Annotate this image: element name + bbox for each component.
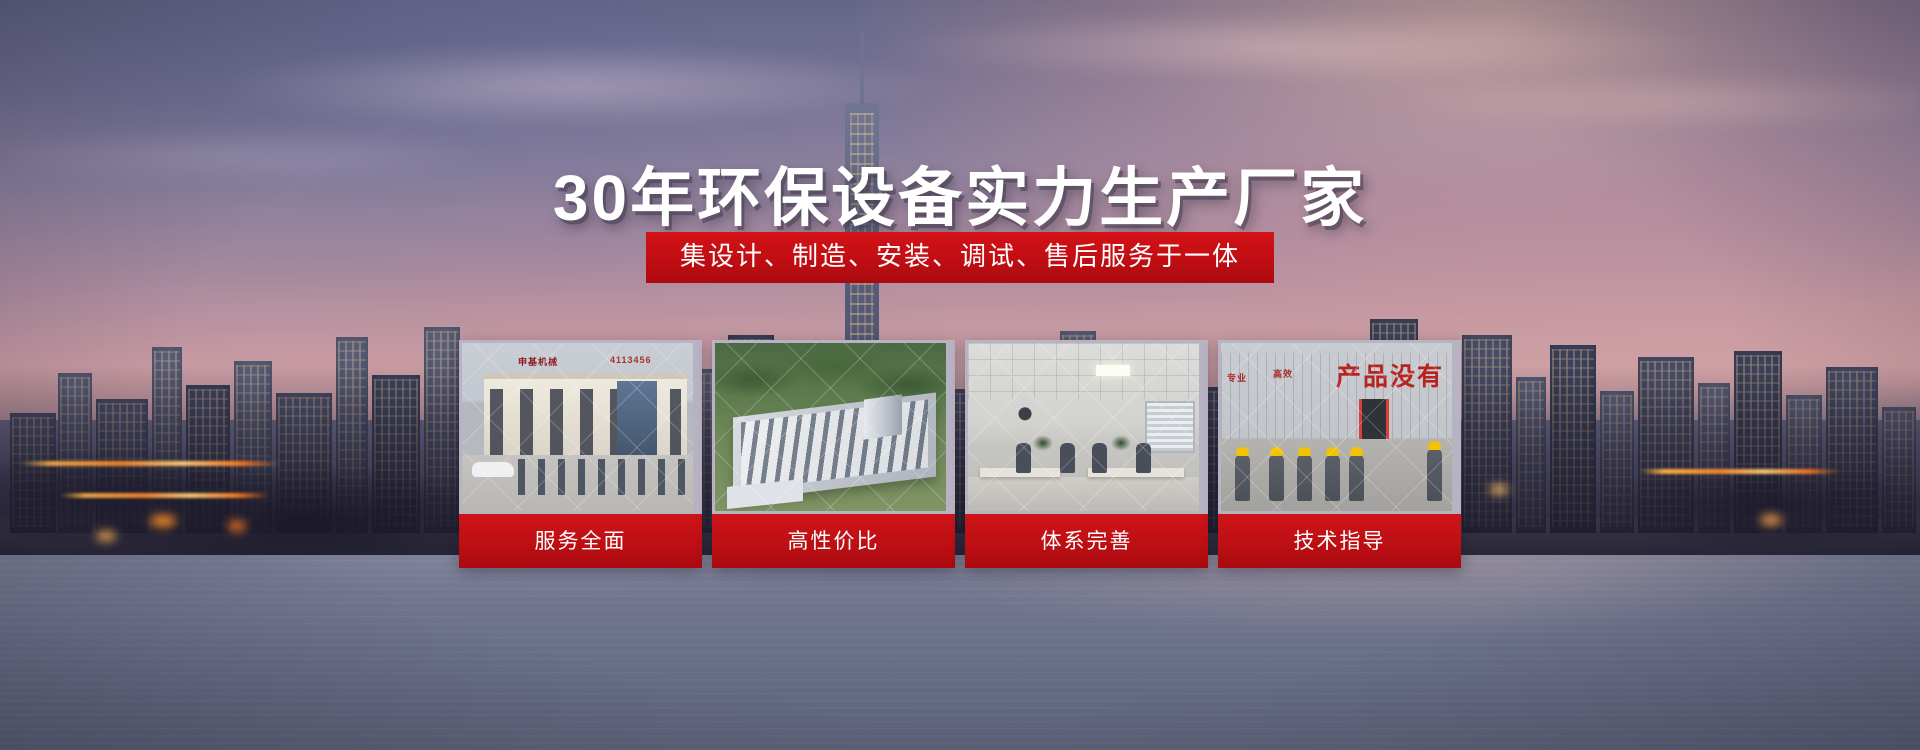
factory-banner-text: 产品没有 — [1336, 357, 1444, 393]
feature-card-label: 技术指导 — [1218, 514, 1461, 568]
office-interior-photo — [968, 343, 1199, 511]
hero-banner: 30年环保设备实力生产厂家 集设计、制造、安装、调试、售后服务于一体 申基机械 … — [0, 0, 1920, 750]
feature-card[interactable]: 产品没有 专业 高效 技术指导 — [1218, 340, 1461, 568]
building-phone-text: 4113456 — [610, 355, 652, 365]
office-building-photo: 申基机械 4113456 — [462, 343, 693, 511]
page-title: 30年环保设备实力生产厂家 — [0, 147, 1920, 239]
feature-card-label: 高性价比 — [712, 514, 955, 568]
factory-wall-text-2: 高效 — [1273, 369, 1293, 381]
building-signage-text: 申基机械 — [518, 355, 558, 368]
feature-card[interactable]: 高性价比 — [712, 340, 955, 568]
subtitle-banner: 集设计、制造、安装、调试、售后服务于一体 — [646, 232, 1274, 283]
subtitle-container: 集设计、制造、安装、调试、售后服务于一体 — [0, 232, 1920, 283]
feature-card-list: 申基机械 4113456 服务全面 — [459, 340, 1461, 568]
factory-workers-photo: 产品没有 专业 高效 — [1221, 343, 1452, 511]
feature-card-label: 体系完善 — [965, 514, 1208, 568]
factory-wall-text-1: 专业 — [1227, 373, 1247, 385]
feature-card[interactable]: 申基机械 4113456 服务全面 — [459, 340, 702, 568]
feature-card-label: 服务全面 — [459, 514, 702, 568]
feature-card[interactable]: 体系完善 — [965, 340, 1208, 568]
aerial-industrial-plant-photo — [715, 343, 946, 511]
